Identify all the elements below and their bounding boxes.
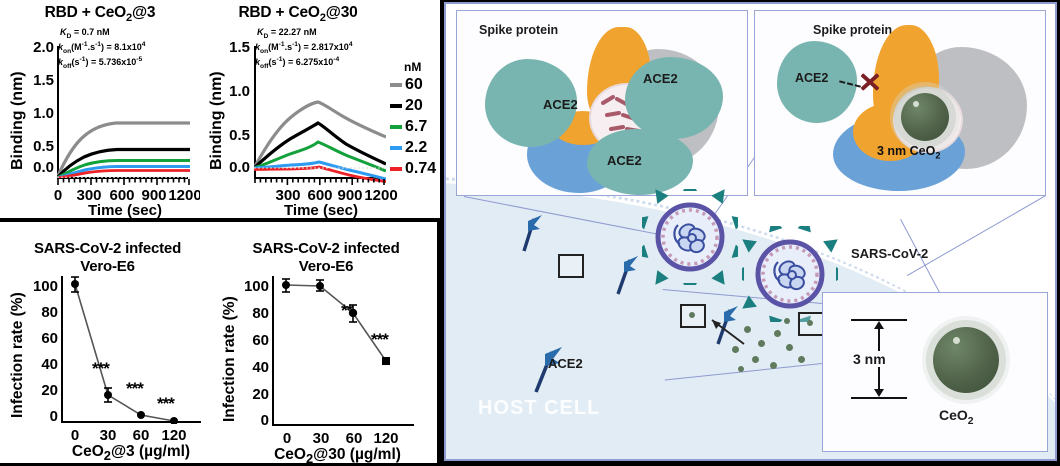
chart4-xlabel: CeO2@30 (µg/ml) [245,446,430,466]
chart4-xtick-120: 120 [370,430,402,447]
ace2-lobe-right [625,57,723,139]
legend-item-6.7: 6.7 [390,119,427,135]
free-nanoparticle [752,356,759,363]
chart2-curves [254,46,386,184]
inset-spike-ace2-binding: Spike protein ACE2 [456,10,748,196]
mechanism-illustration: HOST CELL Spike protein [444,2,1057,461]
chart3-xtick-60: 60 [127,427,155,444]
chart3-xtick-120: 120 [158,427,190,444]
chart3-ytick-20: 20 [18,382,58,399]
inset2-nanoparticle-label: 3 nm CeO2 [877,144,941,161]
ace2-receptor-1 [506,199,576,259]
chart3-xlabel: CeO2@3 (µg/ml) [45,443,217,463]
chart3-ytick-60: 60 [18,330,58,347]
legend-item-0.74: 0.74 [390,161,436,177]
chart4-ytick-100: 100 [229,278,269,295]
chart4-series [272,276,416,426]
legend-swatch-20 [390,104,402,108]
chart2-ytick-0.5: 0.5 [216,127,250,144]
inset1-ace2-label-bottom: ACE2 [607,153,642,168]
chart4-title-line2: Vero-E6 [215,258,437,275]
chart3-title-line2: Vero-E6 [0,258,215,275]
virus-label: SARS-CoV-2 [851,246,928,261]
legend-label-20: 20 [405,98,423,114]
chart3-ytick-40: 40 [18,356,58,373]
binding-arrow-icon [704,316,748,348]
free-nanoparticle [798,356,805,363]
legend-item-60: 60 [390,77,423,93]
chart-infection-ceo2-30: SARS-CoV-2 infected Vero-E6 Infection ra… [215,222,437,463]
inset-nanoparticle-size: 3 nm CeO2 [822,292,1048,452]
ace2-receptor-label: ACE2 [548,356,583,371]
legend-label-0.74: 0.74 [405,161,436,177]
chart1-ytick-1.0: 1.0 [20,105,54,122]
free-nanoparticle [770,362,777,369]
legend-swatch-0.74 [390,167,402,171]
chart3-series [61,276,203,424]
chart3-ytick-80: 80 [18,304,58,321]
chart2-title: RBD + CeO2@30 [188,4,408,24]
chart3-ytick-100: 100 [18,278,58,295]
chart2-ytick-1.5: 1.5 [216,39,250,56]
chart4-xtick-0: 0 [273,430,301,447]
chart1-ytick-1.5: 1.5 [20,72,54,89]
inset2-np-label-main: 3 nm CeO [877,144,935,158]
inset-ceo2-blocking: Spike protein ACE2 3 nm CeO2 [754,10,1046,196]
np-material-main: CeO [939,407,968,423]
free-nanoparticle [738,366,744,372]
zoom-box-1 [558,254,584,278]
chart4-xtick-60: 60 [340,430,368,447]
chart3-xtick-30: 30 [94,427,122,444]
chart4-xtick-30: 30 [307,430,335,447]
chart-infection-ceo2-3: SARS-CoV-2 infected Vero-E6 Infection ra… [0,222,215,463]
legend-swatch-6.7 [390,125,402,129]
ceo2-nanoparticle-detail [933,327,999,393]
np-size-label: 3 nm [851,351,888,367]
ceo2-nanoparticle-bound [901,93,949,141]
chart1-title-tail: @3 [132,4,155,21]
chart4-ytick-20: 20 [229,386,269,403]
chart3-xtick-0: 0 [61,427,89,444]
zoom-box-3 [798,312,824,336]
chart4-xlabel-tail: @30 (µg/ml) [313,446,401,463]
inset2-ace2-label: ACE2 [795,71,828,85]
chart2-xminor-ticks [254,179,385,186]
inset1-ace2-label-left: ACE2 [543,97,578,112]
np-material-sub: 2 [968,416,974,427]
chart3-significance-30: *** [92,359,109,379]
chart3-xlabel-sub: 2 [104,448,111,463]
legend-item-20: 20 [390,98,423,114]
chart4-significance-60: ** [341,301,352,321]
legend-title: nM [404,60,421,74]
chart4-xlabel-main: CeO [274,446,306,463]
chart2-title-tail: @30 [326,4,358,21]
zoom-box-2-particle [689,312,695,318]
chart3-title-line1: SARS-CoV-2 infected [0,240,215,257]
chart4-title-line1: SARS-CoV-2 infected [215,240,437,257]
np-dim-arrow-up-icon [874,321,884,329]
chart3-significance-120: *** [157,394,174,414]
legend-label-60: 60 [405,77,423,93]
zoom-box-3-particle [807,320,813,326]
chart1-ytick-0.0: 0.0 [20,159,54,176]
chart1-ytick-0.5: 0.5 [20,138,54,155]
ceo2-detail-highlight [953,337,960,344]
legend-label-6.7: 6.7 [405,119,427,135]
legend-swatch-2.2 [390,146,402,150]
chart3-ytick-0: 0 [18,408,58,425]
legend-label-2.2: 2.2 [405,140,427,156]
free-nanoparticle [784,318,790,324]
chart4-ytick-80: 80 [229,305,269,322]
chart3-xlabel-tail: @3 (µg/ml) [111,443,190,460]
connector-right-inset [907,195,1046,276]
chart4-significance-120: *** [371,330,388,350]
legend-item-2.2: 2.2 [390,140,427,156]
inset2-np-label-sub: 2 [935,151,940,161]
chart-bli-ceo2-3: RBD + CeO2@3 KD = 0.7 nM kon(M-1.s-1) = … [0,0,200,218]
figure-root: RBD + CeO2@3 KD = 0.7 nM kon(M-1.s-1) = … [0,0,1060,463]
chart1-kd: KD = 0.7 nM [60,27,110,40]
ace2-receptor-2 [606,242,676,302]
inset2-spike-label: Spike protein [813,23,892,37]
inset1-ace2-label-right: ACE2 [643,71,678,86]
chart2-title-main: RBD + CeO [238,4,319,21]
chart1-kd-value: 0.7 nM [82,27,110,37]
chart1-xminor-ticks [57,179,190,186]
zoom-box-2 [680,304,706,328]
chart2-kd: KD = 22.27 nM [257,27,317,40]
chart4-ytick-0: 0 [229,412,269,429]
chart3-significance-60: *** [126,379,143,399]
chart1-title-main: RBD + CeO [45,4,126,21]
np-material-label: CeO2 [939,407,974,427]
host-cell-label: HOST CELL [478,397,600,420]
chart2-xlabel: Time (sec) [256,202,386,219]
legend-swatch-60 [390,83,402,87]
chart1-xlabel: Time (sec) [60,202,190,219]
chart1-curves [57,46,190,178]
chart4-ytick-40: 40 [229,359,269,376]
blocked-x-icon [859,71,881,93]
np-dim-bottom-line [851,397,907,399]
free-nanoparticle [758,340,765,347]
free-nanoparticle [786,344,793,351]
chart4-ytick-60: 60 [229,332,269,349]
chart2-ytick-1.0: 1.0 [216,83,250,100]
chart3-xlabel-main: CeO [72,443,104,460]
chart2-ytick-0.0: 0.0 [216,159,250,176]
charts-panel: RBD + CeO2@3 KD = 0.7 nM kon(M-1.s-1) = … [0,0,440,463]
np-dim-arrow-down-icon [874,389,884,397]
ceo2-highlight [913,101,919,107]
inset1-spike-label: Spike protein [479,23,558,37]
chart1-ytick-2.0: 2.0 [20,39,54,56]
free-nanoparticle [774,330,781,337]
chart1-title: RBD + CeO2@3 [0,4,200,24]
chart2-kd-value: 22.27 nM [279,27,317,37]
chart-bli-ceo2-30: RBD + CeO2@30 KD = 22.27 nM kon(M-1.s-1)… [200,0,440,218]
